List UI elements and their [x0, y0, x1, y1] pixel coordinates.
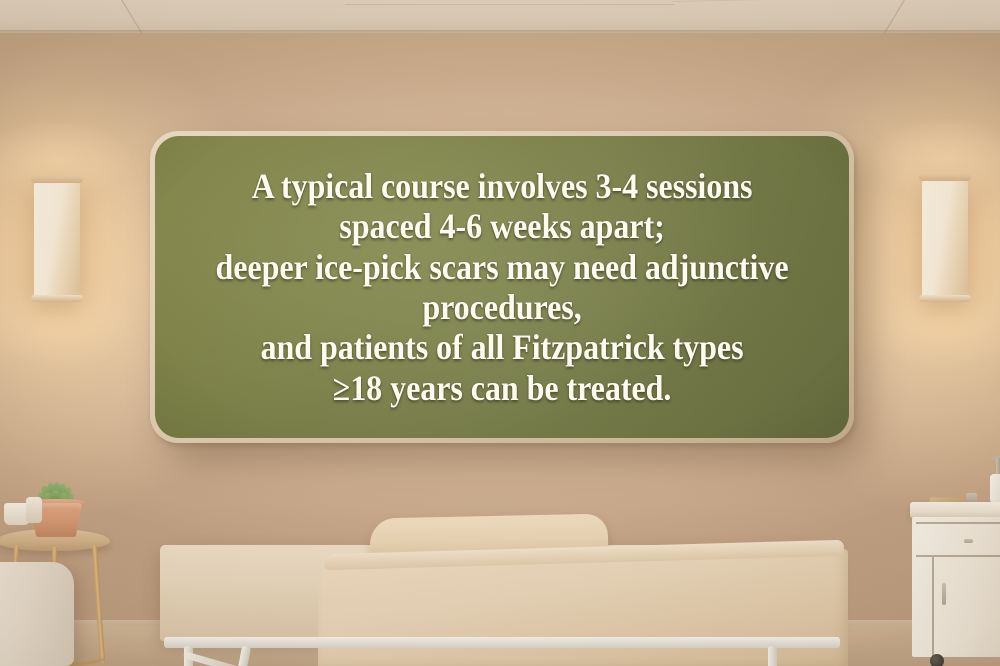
sconce-left-base	[31, 295, 83, 302]
sign-line-1: A typical course involves 3-4 sessions	[201, 166, 804, 206]
clinic-room-scene: A typical course involves 3-4 sessions s…	[0, 0, 1000, 666]
sign-line-3: deeper ice-pick scars may need adjunctiv…	[201, 247, 804, 287]
ceiling-seam-center-2	[672, 0, 857, 2]
sconce-left-cap	[31, 176, 83, 183]
medical-cabinet	[912, 502, 1000, 666]
sconce-right-shade	[922, 178, 968, 298]
cabinet-caster-wheel	[930, 654, 944, 666]
sign-line-5: and patients of all Fitzpatrick types	[201, 327, 804, 367]
bed-leg-right	[768, 646, 777, 666]
cabinet-drawer-gap-bottom	[916, 555, 1000, 557]
cabinet-drawer-handle	[964, 539, 973, 543]
soap-dispenser-neck	[996, 458, 1000, 475]
cabinet-door-seam	[932, 557, 934, 657]
soap-dispenser	[990, 474, 1000, 504]
cabinet-countertop	[910, 502, 1000, 518]
ceiling	[0, 0, 1000, 34]
sconce-right-base	[919, 295, 971, 302]
bed-leg-left-2	[238, 645, 251, 666]
treatment-bed	[148, 503, 848, 666]
wall-sign-face: A typical course involves 3-4 sessions s…	[155, 136, 849, 438]
sign-line-4: procedures,	[201, 287, 804, 327]
wall-sign-text: A typical course involves 3-4 sessions s…	[188, 166, 816, 408]
white-stool	[0, 562, 74, 666]
ceiling-seam-center	[345, 4, 675, 5]
cabinet-door-handle	[942, 583, 946, 605]
wall-sign: A typical course involves 3-4 sessions s…	[150, 131, 854, 443]
sign-line-6: ≥18 years can be treated.	[201, 368, 804, 408]
bed-frame-rail	[164, 637, 840, 648]
sconce-right	[922, 178, 968, 298]
sconce-right-cap	[919, 174, 971, 181]
sconce-left	[34, 180, 80, 298]
cabinet-body	[912, 517, 1000, 657]
sconce-left-shade	[34, 180, 80, 298]
cabinet-drawer-gap-top	[916, 522, 1000, 524]
tray-cup-b	[26, 497, 42, 523]
sign-line-2: spaced 4-6 weeks apart;	[201, 206, 804, 246]
